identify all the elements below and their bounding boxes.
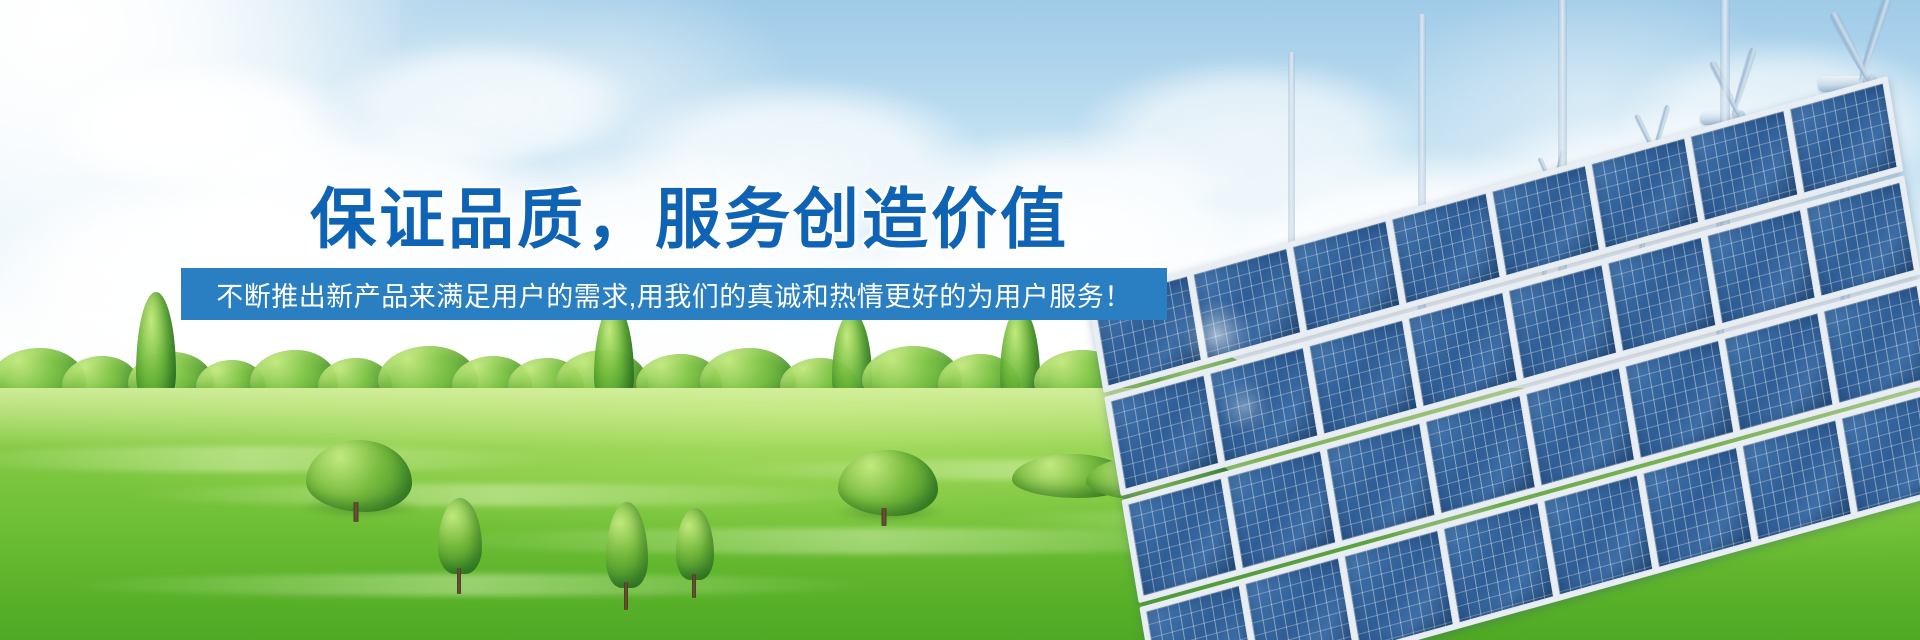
subtitle-text: 不断推出新产品来满足用户的需求,用我们的真诚和热情更好的为用户服务！ xyxy=(216,275,1132,314)
subtitle-bar: 不断推出新产品来满足用户的需求,用我们的真诚和热情更好的为用户服务！ xyxy=(181,268,1167,320)
field-highlight xyxy=(0,388,1920,448)
page-title: 保证品质，服务创造价值 xyxy=(310,166,1069,262)
tree-trunk xyxy=(882,508,887,526)
wind-turbine-icon xyxy=(1541,196,1546,346)
tree-trunk xyxy=(692,574,696,598)
wind-turbine-icon xyxy=(1639,162,1645,346)
wind-turbine-icon xyxy=(1716,122,1724,346)
promo-banner: 保证品质，服务创造价值 不断推出新产品来满足用户的需求,用我们的真诚和热情更好的… xyxy=(0,0,1920,640)
tree-trunk xyxy=(624,582,628,610)
grass-field xyxy=(0,388,1920,640)
tree-trunk xyxy=(354,502,359,522)
tree-trunk xyxy=(457,568,461,594)
wind-turbine-icon xyxy=(1840,88,1850,346)
